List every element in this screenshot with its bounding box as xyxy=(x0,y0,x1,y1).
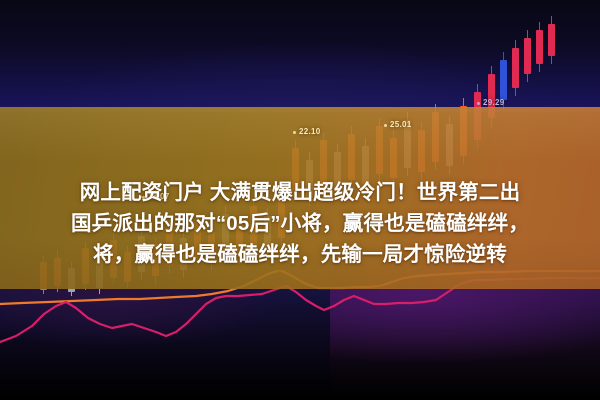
candlestick-body xyxy=(548,24,555,56)
headline-line-2: 国乒派出的那对“05后”小将，赢得也是磕磕绊绊， xyxy=(71,209,529,239)
candlestick xyxy=(548,16,555,64)
headline-line-1: 网上配资门户 大满贯爆出超级冷门！世界第二出 xyxy=(80,178,521,208)
candlestick-body xyxy=(536,30,543,64)
candlestick xyxy=(536,22,543,72)
candlestick xyxy=(500,52,507,110)
candlestick xyxy=(524,30,531,82)
candlestick xyxy=(512,40,519,96)
headline-block: 网上配资门户 大满贯爆出超级冷门！世界第二出 国乒派出的那对“05后”小将，赢得… xyxy=(0,107,600,289)
candlestick-body xyxy=(512,48,519,88)
candlestick-body xyxy=(500,60,507,100)
screenshot-canvas: 29.29 22.1025.0118.07 网上配资门户 大满贯爆出超级冷门！世… xyxy=(0,0,600,400)
headline-line-3: 将，赢得也是磕磕绊绊，先输一局才惊险逆转 xyxy=(93,240,507,270)
candlestick-body xyxy=(524,38,531,74)
